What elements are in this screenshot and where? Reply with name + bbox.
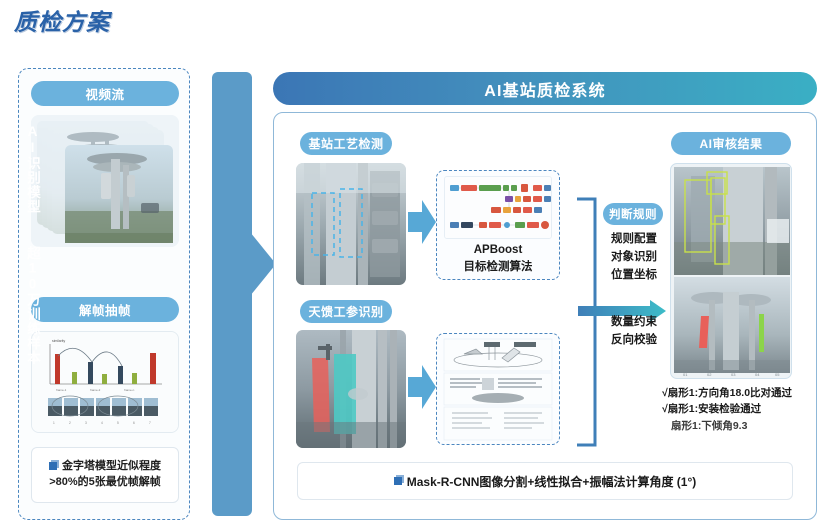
- ai-result-item: √扇形1:方向角18.0比对通过: [662, 385, 802, 401]
- svg-text:4: 4: [101, 421, 103, 425]
- similarity-chart-illustration: similarity frame-1 frame-2 frame-n: [32, 332, 178, 432]
- ai-result-item: √扇形1:安装检验通过: [662, 401, 802, 417]
- rule-item: 位置坐标: [598, 267, 670, 285]
- bottom-caption-text: Mask-R-CNN图像分割+线性拟合+振幅法计算角度 (1°): [407, 473, 697, 490]
- rule-item: 规则配置: [598, 231, 670, 249]
- slide-root: 质检方案 视频流: [0, 0, 829, 531]
- svg-text:01: 01: [683, 372, 688, 377]
- note-line-1: 金字塔模型近似程度: [62, 460, 161, 472]
- station-process-photo: [296, 163, 406, 285]
- apboost-algorithm-box: APBoost 目标检测算法: [436, 170, 560, 280]
- ai-result-text: 扇形1:方向角18.0比对通过: [668, 387, 792, 399]
- input-pipeline-panel: 视频流: [18, 68, 190, 520]
- svg-text:6: 6: [133, 421, 135, 425]
- arrow-process-to-algo: [408, 200, 436, 244]
- svg-text:02: 02: [707, 372, 712, 377]
- svg-text:frame-2: frame-2: [90, 388, 101, 392]
- badge-ai-audit-result[interactable]: AI审核结果: [671, 132, 791, 155]
- ai-result-image-card: 010203 0405: [670, 163, 792, 379]
- svg-text:5: 5: [117, 421, 119, 425]
- svg-text:frame-1: frame-1: [56, 388, 67, 392]
- ai-result-text: 扇形1:下倾角9.3: [671, 420, 747, 432]
- svg-text:similarity: similarity: [52, 339, 65, 343]
- antenna-technical-diagrams: [442, 338, 554, 442]
- badge-video-stream[interactable]: 视频流: [31, 81, 179, 106]
- rule-item: 反向校验: [598, 332, 670, 350]
- network-architecture-illustration: [445, 177, 552, 239]
- arrow-antenna-to-algo: [408, 365, 436, 409]
- badge-antenna-param-recognition[interactable]: 天馈工参识别: [300, 300, 392, 323]
- rules-group-2: 数量约束 反向校验: [598, 314, 670, 350]
- tower-frames-illustration: [31, 115, 179, 247]
- antenna-detection-photo: [296, 330, 406, 448]
- antenna-algorithm-box: [436, 333, 560, 445]
- system-header: AI基站质检系统: [273, 72, 817, 105]
- svg-text:1: 1: [53, 421, 55, 425]
- ai-result-list: √扇形1:方向角18.0比对通过 √扇形1:安装检验通过 扇形1:下倾角9.3: [662, 385, 802, 434]
- frame-extraction-chart-image: similarity frame-1 frame-2 frame-n: [31, 331, 179, 433]
- svg-text:2: 2: [69, 421, 71, 425]
- apboost-name: APBoost: [464, 242, 533, 259]
- ai-result-item: 扇形1:下倾角9.3: [662, 418, 802, 434]
- svg-text:frame-n: frame-n: [124, 388, 135, 392]
- svg-text:3: 3: [85, 421, 87, 425]
- apboost-desc: 目标检测算法: [464, 259, 533, 276]
- ai-model-band-label: AI识别模型 超10万训练样本: [0, 124, 40, 374]
- antenna-photo: [296, 330, 406, 448]
- ai-model-band: [212, 72, 252, 516]
- note-line-2: >80%的5张最优帧解帧: [49, 476, 161, 488]
- frame-extraction-note: 金字塔模型近似程度 >80%的5张最优帧解帧: [31, 447, 179, 503]
- svg-text:03: 03: [731, 372, 736, 377]
- bullet-square-icon: [394, 477, 402, 485]
- bullet-square-icon: [49, 462, 57, 470]
- rule-item: 数量约束: [598, 314, 670, 332]
- ai-annotated-images: 010203 0405: [671, 164, 792, 379]
- badge-judgement-rules[interactable]: 判断规则: [603, 203, 663, 225]
- badge-station-process-detection[interactable]: 基站工艺检测: [300, 132, 392, 155]
- badge-frame-extraction[interactable]: 解帧抽帧: [31, 297, 179, 322]
- rule-item: 对象识别: [598, 249, 670, 267]
- svg-text:7: 7: [149, 421, 151, 425]
- video-stream-image-stack: [31, 115, 179, 247]
- rru-equipment-photo: [296, 163, 406, 285]
- apboost-network-diagram: [444, 176, 552, 239]
- page-title: 质检方案: [14, 3, 110, 37]
- rules-group-1: 规则配置 对象识别 位置坐标: [598, 231, 670, 284]
- svg-text:04: 04: [755, 372, 760, 377]
- svg-text:05: 05: [775, 372, 780, 377]
- ai-result-text: 扇形1:安装检验通过: [668, 403, 761, 415]
- bottom-caption-box: Mask-R-CNN图像分割+线性拟合+振幅法计算角度 (1°): [297, 462, 793, 500]
